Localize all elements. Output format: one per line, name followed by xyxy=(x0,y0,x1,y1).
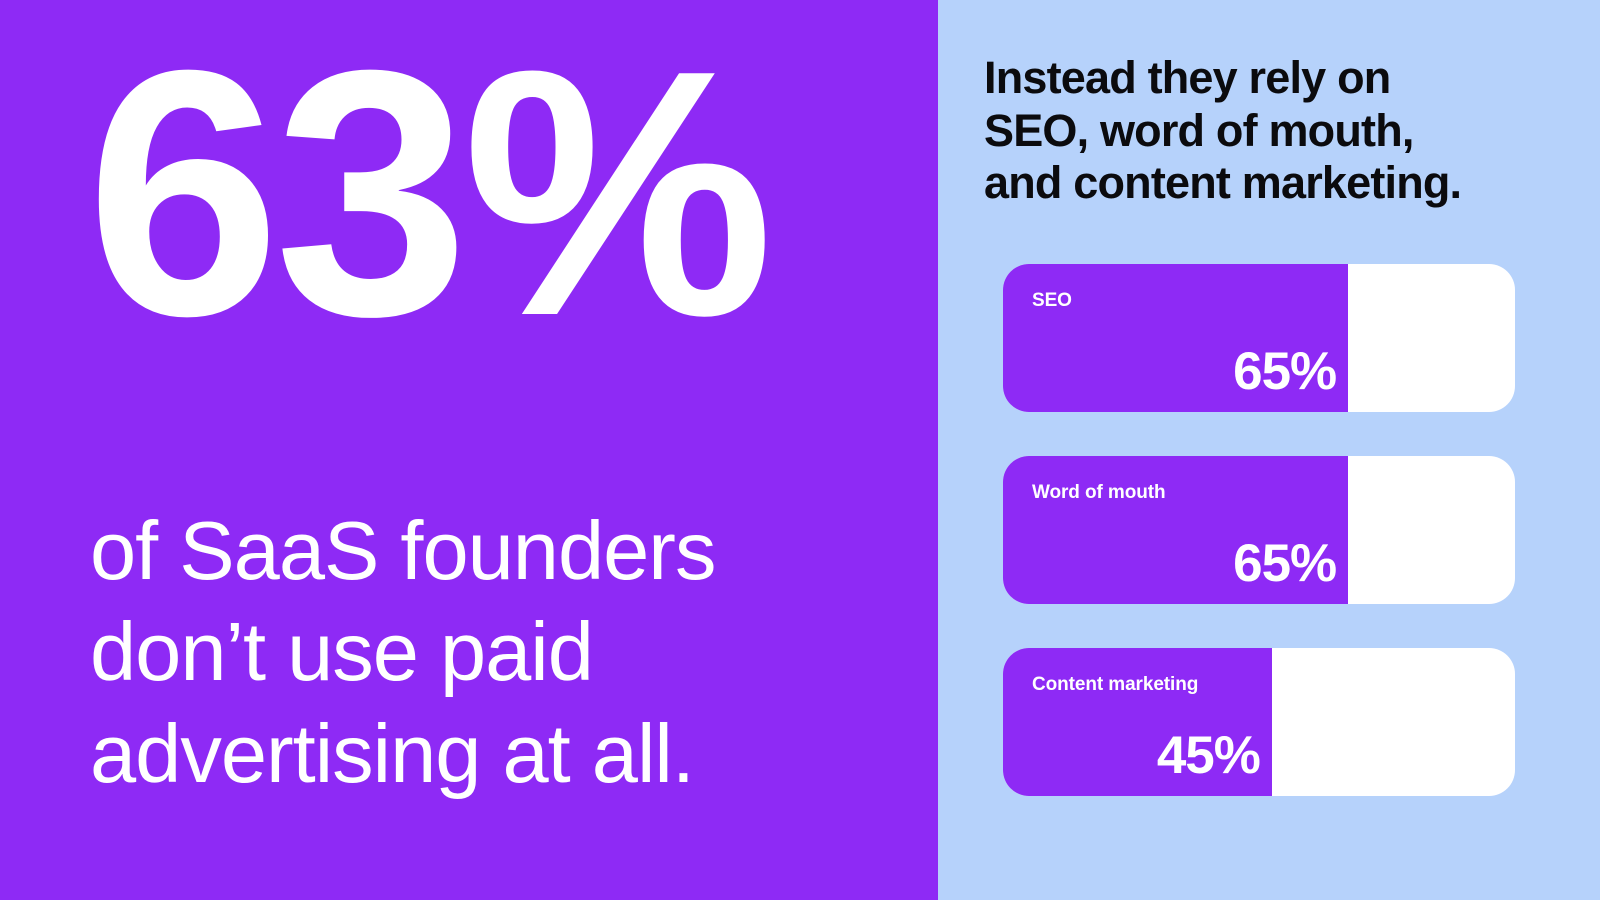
chart-title-line-1: Instead they rely on xyxy=(984,52,1584,105)
bar-chart: SEO 65% Word of mouth 65% Content market… xyxy=(1003,264,1515,796)
left-panel: 63% of SaaS founders don’t use paid adve… xyxy=(0,0,938,900)
headline-description-line-3: advertising at all. xyxy=(90,703,890,804)
bar-row: Content marketing 45% xyxy=(1003,648,1515,796)
bar-label: Word of mouth xyxy=(1032,482,1166,504)
bar-value: 45% xyxy=(1003,729,1260,782)
headline-description-line-1: of SaaS founders xyxy=(90,500,890,601)
bar-label: Content marketing xyxy=(1032,674,1198,696)
bar-row: SEO 65% xyxy=(1003,264,1515,412)
chart-title-line-3: and content marketing. xyxy=(984,157,1584,210)
headline-statistic: 63% xyxy=(86,22,876,365)
chart-title: Instead they rely on SEO, word of mouth,… xyxy=(984,52,1584,210)
headline-description: of SaaS founders don’t use paid advertis… xyxy=(90,500,890,804)
bar-label: SEO xyxy=(1032,290,1072,312)
infographic-poster: 63% of SaaS founders don’t use paid adve… xyxy=(0,0,1600,900)
headline-description-line-2: don’t use paid xyxy=(90,601,890,702)
bar-value: 65% xyxy=(1003,345,1336,398)
bar-row: Word of mouth 65% xyxy=(1003,456,1515,604)
right-panel: Instead they rely on SEO, word of mouth,… xyxy=(938,0,1600,900)
bar-value: 65% xyxy=(1003,537,1336,590)
chart-title-line-2: SEO, word of mouth, xyxy=(984,105,1584,158)
